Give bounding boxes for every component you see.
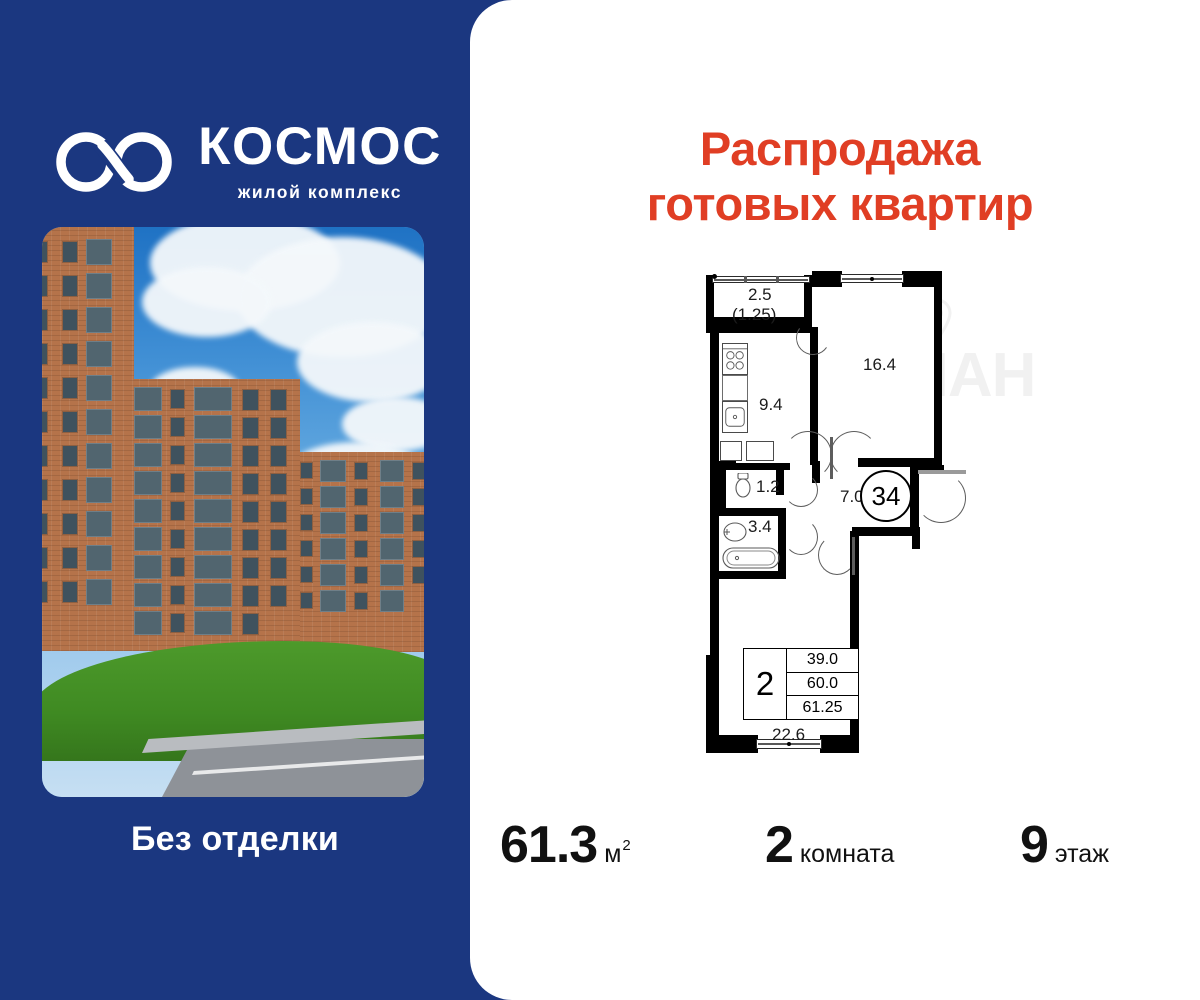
entrance-door-swing-icon (916, 473, 966, 523)
room-label-wc: 1.2 (756, 477, 780, 497)
apartment-number-badge: 34 (860, 470, 912, 522)
room-label-bathroom: 3.4 (748, 517, 772, 537)
door-swing-icon (830, 431, 878, 479)
building-block-middle (130, 379, 300, 651)
poster-root: КОСМОС жилой комплекс (0, 0, 1200, 1000)
room-count-cell: 2 (744, 649, 787, 719)
cabinet-unit (746, 441, 774, 461)
glazing-mullion (714, 279, 808, 281)
spec-area-unit-exponent: 2 (622, 837, 630, 854)
spec-floor-label: этаж (1055, 840, 1109, 869)
brand-panel: КОСМОС жилой комплекс (0, 0, 470, 1000)
cloud-shape (142, 267, 272, 337)
glazing-dot (870, 277, 874, 281)
wall-segment (812, 271, 842, 287)
building-block-near (42, 227, 134, 651)
balcony-corner-dot (712, 274, 717, 279)
cabinet-unit (720, 441, 742, 461)
headline-line-2: готовых квартир (530, 177, 1150, 232)
spec-area: 61.3 м 2 (500, 815, 630, 875)
glazing-post (744, 276, 747, 283)
spec-rooms: 2 комната (765, 815, 894, 875)
room-label-balcony: 2.5 (748, 285, 772, 305)
brand-tagline: жилой комплекс (190, 182, 450, 203)
door-swing-icon (784, 431, 832, 479)
wall-segment (820, 735, 859, 753)
kitchen-counter (722, 375, 748, 401)
wall-segment (852, 527, 918, 536)
bathtub-fixture (722, 547, 780, 569)
apartment-specs: 61.3 м 2 2 комната 9 этаж (500, 815, 1180, 885)
area-summary-table: 2 39.0 60.0 61.25 (743, 648, 859, 720)
door-swing-icon (784, 519, 818, 555)
room-label-bedroom: 16.4 (863, 355, 896, 375)
area-with-balcony-cell: 61.25 (787, 696, 858, 719)
spec-rooms-value: 2 (765, 815, 793, 875)
door-swing-icon (818, 535, 856, 575)
residential-complex-photo (42, 227, 424, 797)
building-block-far (294, 452, 424, 652)
spec-area-value: 61.3 (500, 815, 597, 875)
room-label-living: 22.6 (772, 725, 805, 745)
spec-floor: 9 этаж (1020, 815, 1109, 875)
wall-segment (718, 508, 786, 516)
wall-segment (934, 271, 942, 466)
brand-wordmark: КОСМОС жилой комплекс (190, 120, 450, 203)
brand-logo: КОСМОС жилой комплекс (50, 118, 450, 210)
door-swing-icon (784, 473, 818, 507)
room-label-balcony-secondary: (1.25) (732, 305, 776, 325)
infinity-loops-icon (50, 128, 180, 196)
floor-plan: 2.5 (1.25) 9.4 16.4 1.2 3.4 7.0 22.6 34 … (700, 265, 970, 790)
page-title: Распродажа готовых квартир (530, 122, 1150, 231)
door-leaf (852, 537, 855, 575)
living-area-cell: 39.0 (787, 649, 858, 673)
stove-fixture (722, 343, 748, 375)
wall-segment (706, 735, 758, 753)
wall-segment (718, 571, 786, 579)
room-label-kitchen: 9.4 (759, 395, 783, 415)
kitchen-sink-fixture (722, 401, 748, 433)
entrance-door-leaf (918, 470, 966, 474)
headline-line-1: Распродажа (700, 122, 980, 175)
brand-name: КОСМОС (190, 120, 450, 173)
spec-area-unit: м (604, 840, 621, 869)
finishing-caption: Без отделки (0, 820, 470, 859)
spec-rooms-label: комната (800, 840, 895, 869)
toilet-fixture (734, 473, 752, 501)
offer-panel: Распродажа готовых квартир ЦИАН (470, 0, 1200, 1000)
total-area-cell: 60.0 (787, 673, 858, 697)
wall-segment (912, 527, 920, 549)
wall-segment (718, 469, 726, 513)
spec-floor-value: 9 (1020, 815, 1048, 875)
wall-segment (706, 655, 712, 739)
glazing-post (776, 276, 779, 283)
washbasin-fixture (722, 521, 748, 543)
